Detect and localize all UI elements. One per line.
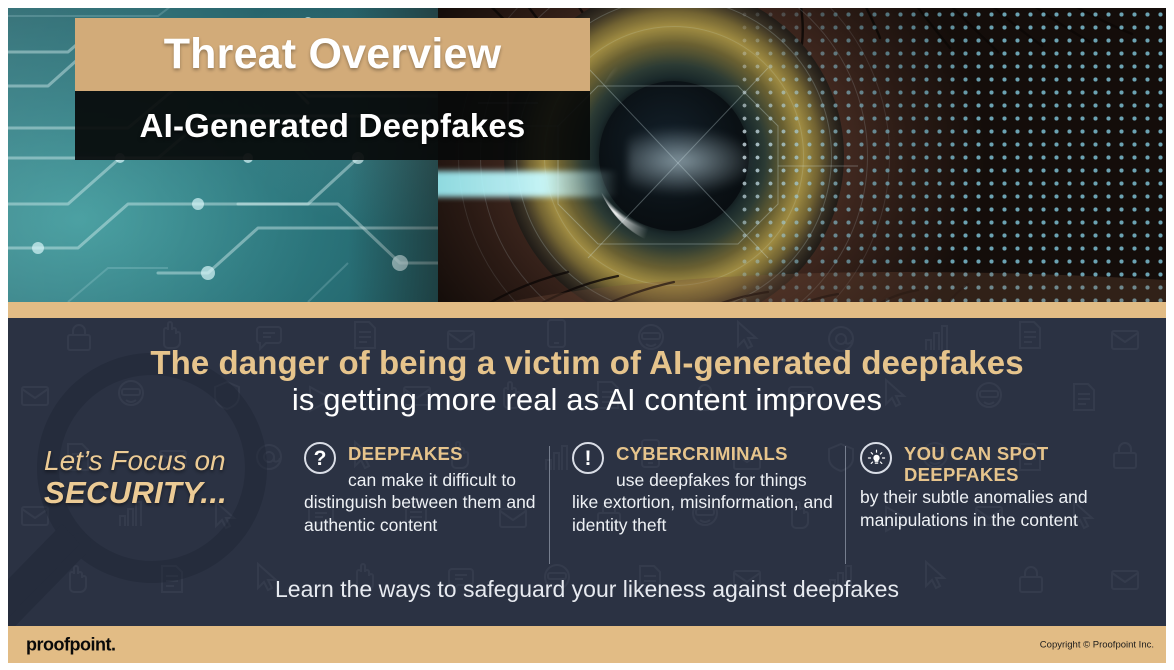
hero-subtitle-box: AI-Generated Deepfakes: [75, 91, 590, 160]
fact-column-title: CYBERCRIMINALS: [616, 442, 838, 465]
exclamation-mark-icon: !: [572, 442, 604, 474]
fact-body-first-line: use deepfakes for things: [572, 469, 838, 491]
headline-primary: The danger of being a victim of AI-gener…: [8, 344, 1166, 382]
fact-column-header: YOU CAN SPOT DEEPFAKES: [860, 442, 1110, 485]
hero-banner: Threat Overview AI-Generated Deepfakes: [8, 8, 1166, 302]
fact-column-deepfakes: ? DEEPFAKES can make it difficult to dis…: [304, 442, 546, 536]
body-tagline: Learn the ways to safeguard your likenes…: [8, 576, 1166, 603]
fact-column-body: by their subtle anomalies and manipulati…: [860, 486, 1110, 531]
lightbulb-glyph: [867, 449, 886, 468]
fact-column-body: can make it difficult to distinguish bet…: [304, 469, 546, 536]
question-mark-icon: ?: [304, 442, 336, 474]
fact-column-body: use deepfakes for things like extortion,…: [572, 469, 838, 536]
hero-title-box: Threat Overview: [75, 18, 590, 91]
copyright-text: Copyright © Proofpoint Inc.: [1040, 639, 1154, 650]
body-section: The danger of being a victim of AI-gener…: [8, 318, 1166, 626]
fact-body-rest: by their subtle anomalies and manipulati…: [860, 487, 1088, 529]
lightbulb-idea-icon: [860, 442, 892, 474]
fact-column-title: YOU CAN SPOT DEEPFAKES: [904, 442, 1110, 485]
focus-line-1: Let’s Focus on: [44, 446, 294, 475]
focus-callout: Let’s Focus on SECURITY...: [44, 446, 294, 511]
page-title: Threat Overview: [164, 30, 502, 79]
fact-column-title: DEEPFAKES: [348, 442, 546, 465]
fact-column-header: ! CYBERCRIMINALS: [572, 442, 838, 468]
slide: Threat Overview AI-Generated Deepfakes: [8, 8, 1166, 663]
page-subtitle: AI-Generated Deepfakes: [140, 107, 526, 145]
question-mark-glyph: ?: [314, 448, 327, 469]
focus-line-2: SECURITY...: [44, 475, 294, 511]
fact-column-spot-deepfakes: YOU CAN SPOT DEEPFAKES by their subtle a…: [860, 442, 1110, 531]
gold-divider-bar: [8, 302, 1166, 318]
headline-secondary: is getting more real as AI content impro…: [8, 382, 1166, 418]
fact-body-rest: like extortion, misinformation, and iden…: [572, 492, 833, 534]
exclamation-mark-glyph: !: [585, 448, 592, 469]
fact-body-rest: distinguish between them and authentic c…: [304, 492, 536, 534]
footer-bar: proofpoint. Copyright © Proofpoint Inc.: [8, 626, 1166, 663]
column-divider-2: [845, 446, 846, 564]
fact-column-cybercriminals: ! CYBERCRIMINALS use deepfakes for thing…: [572, 442, 838, 536]
column-divider-1: [549, 446, 550, 564]
proofpoint-logo: proofpoint.: [26, 634, 115, 655]
fact-columns: ? DEEPFAKES can make it difficult to dis…: [304, 442, 1149, 592]
fact-column-header: ? DEEPFAKES: [304, 442, 546, 468]
eyelash-bottom-icon: [438, 222, 1166, 302]
fact-body-first-line: can make it difficult to: [304, 469, 546, 491]
